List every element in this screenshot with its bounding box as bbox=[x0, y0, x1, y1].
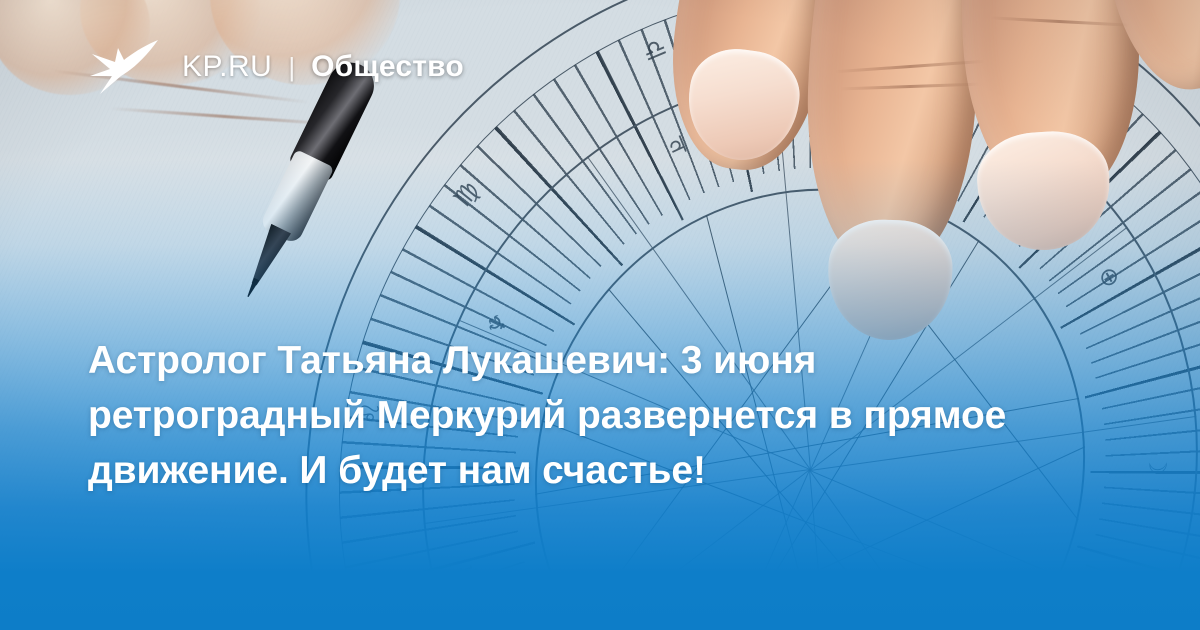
swallow-bird-logo-icon[interactable] bbox=[88, 38, 160, 96]
article-headline[interactable]: Астролог Татьяна Лукашевич: 3 июня ретро… bbox=[88, 333, 1040, 498]
social-share-card: ♒♓♈♉♊♋♌♍♎♏♐♑☽☿♀♄♅♆♃☊⊕ bbox=[0, 0, 1200, 630]
brand-separator: | bbox=[288, 52, 295, 83]
rubric-label[interactable]: Общество bbox=[311, 50, 464, 84]
brand-bar: KP.RU | Общество bbox=[88, 38, 464, 96]
site-name[interactable]: KP.RU bbox=[182, 50, 272, 84]
